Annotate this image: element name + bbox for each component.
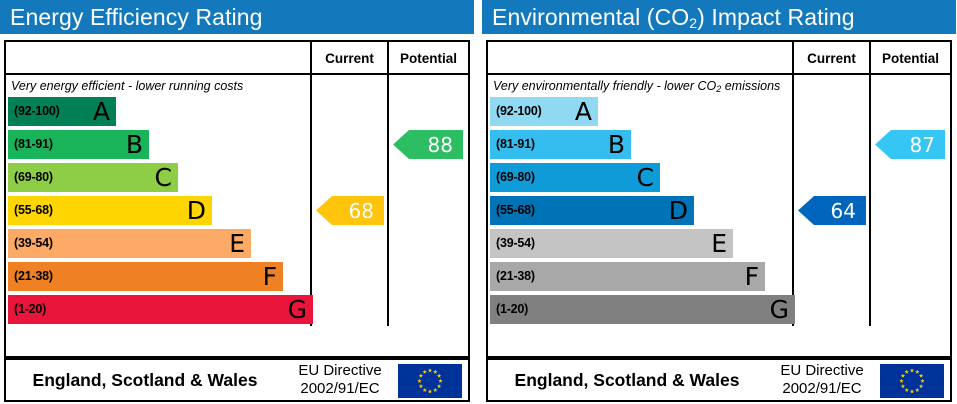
rating-band-F: (21-38)F <box>490 262 765 291</box>
eu-flag-icon <box>398 364 462 398</box>
caption-suffix: emissions <box>721 79 780 93</box>
band-letter-C: C <box>637 165 654 190</box>
rating-band-B: (81-91)B <box>490 130 631 159</box>
column-divider-current <box>792 75 794 326</box>
band-range-E: (39-54) <box>14 237 53 250</box>
rating-band-A: (92-100)A <box>8 97 116 126</box>
band-range-F: (21-38) <box>496 270 535 283</box>
caption-prefix: Very environmentally friendly - lower CO <box>493 79 716 93</box>
band-letter-E: E <box>711 231 727 256</box>
footer-directive-label: EU Directive2002/91/EC <box>766 360 878 400</box>
column-divider-current <box>310 75 312 326</box>
band-letter-D: D <box>187 198 206 223</box>
directive-line-1: EU Directive <box>284 362 396 380</box>
band-range-G: (1-20) <box>14 303 46 316</box>
panel-title-prefix: Environmental (CO <box>492 4 689 30</box>
band-range-B: (81-91) <box>14 138 53 151</box>
panel-title-energy-efficiency: Energy Efficiency Rating <box>0 0 474 34</box>
column-header-row: CurrentPotential <box>488 42 950 75</box>
directive-line-1: EU Directive <box>766 362 878 380</box>
footer-row: England, Scotland & WalesEU Directive200… <box>486 358 952 402</box>
epc-panel-environmental-co2-impact: Environmental (CO2) Impact RatingCurrent… <box>482 0 956 404</box>
rating-band-E: (39-54)E <box>8 229 251 258</box>
band-range-A: (92-100) <box>496 105 542 118</box>
rating-table: CurrentPotentialVery energy efficient - … <box>4 40 470 358</box>
panel-title-environmental-co2-impact: Environmental (CO2) Impact Rating <box>482 0 956 34</box>
column-header-potential: Potential <box>387 42 468 73</box>
column-header-current: Current <box>310 42 387 73</box>
band-range-B: (81-91) <box>496 138 535 151</box>
rating-band-F: (21-38)F <box>8 262 283 291</box>
rating-band-E: (39-54)E <box>490 229 733 258</box>
column-divider-potential <box>387 75 389 326</box>
band-letter-D: D <box>669 198 688 223</box>
footer-region-label: England, Scotland & Wales <box>6 360 284 400</box>
rating-band-B: (81-91)B <box>8 130 149 159</box>
column-header-row: CurrentPotential <box>6 42 468 75</box>
column-header-current: Current <box>792 42 869 73</box>
band-letter-G: G <box>288 297 307 322</box>
band-letter-F: F <box>745 264 759 289</box>
caption-top: Very environmentally friendly - lower CO… <box>488 75 790 97</box>
rating-band-A: (92-100)A <box>490 97 598 126</box>
rating-band-C: (69-80)C <box>8 163 178 192</box>
rating-band-C: (69-80)C <box>490 163 660 192</box>
band-range-A: (92-100) <box>14 105 60 118</box>
band-letter-A: A <box>93 99 110 124</box>
band-letter-C: C <box>155 165 172 190</box>
band-letter-A: A <box>575 99 592 124</box>
band-letter-F: F <box>263 264 277 289</box>
rating-band-G: (1-20)G <box>8 295 313 324</box>
footer-directive-label: EU Directive2002/91/EC <box>284 360 396 400</box>
epc-chart-page: Energy Efficiency RatingCurrentPotential… <box>0 0 957 404</box>
band-range-G: (1-20) <box>496 303 528 316</box>
band-letter-G: G <box>770 297 789 322</box>
current-rating-arrow: 64 <box>798 196 866 225</box>
eu-flag-icon <box>880 364 944 398</box>
footer-row: England, Scotland & WalesEU Directive200… <box>4 358 470 402</box>
co2-subscript: 2 <box>689 15 697 31</box>
column-header-potential: Potential <box>869 42 950 73</box>
co2-subscript: 2 <box>716 84 721 94</box>
band-range-D: (55-68) <box>496 204 535 217</box>
rating-band-D: (55-68)D <box>490 196 694 225</box>
band-range-C: (69-80) <box>14 171 53 184</box>
rating-bands: (92-100)A(81-91)B(69-80)C(55-68)D(39-54)… <box>6 97 308 329</box>
panel-title-suffix: ) Impact Rating <box>697 4 854 30</box>
caption-top: Very energy efficient - lower running co… <box>6 75 308 97</box>
column-header-blank <box>6 42 310 73</box>
band-range-F: (21-38) <box>14 270 53 283</box>
directive-line-2: 2002/91/EC <box>284 380 396 398</box>
directive-line-2: 2002/91/EC <box>766 380 878 398</box>
band-letter-B: B <box>126 132 143 157</box>
rating-band-D: (55-68)D <box>8 196 212 225</box>
potential-rating-arrow: 88 <box>393 130 463 159</box>
rating-table: CurrentPotentialVery environmentally fri… <box>486 40 952 358</box>
rating-bands: (92-100)A(81-91)B(69-80)C(55-68)D(39-54)… <box>488 97 790 329</box>
band-letter-B: B <box>608 132 625 157</box>
band-range-D: (55-68) <box>14 204 53 217</box>
column-header-blank <box>488 42 792 73</box>
footer-region-label: England, Scotland & Wales <box>488 360 766 400</box>
epc-panel-energy-efficiency: Energy Efficiency RatingCurrentPotential… <box>0 0 474 404</box>
rating-band-G: (1-20)G <box>490 295 795 324</box>
band-range-E: (39-54) <box>496 237 535 250</box>
band-range-C: (69-80) <box>496 171 535 184</box>
column-divider-potential <box>869 75 871 326</box>
potential-rating-arrow: 87 <box>875 130 945 159</box>
band-letter-E: E <box>229 231 245 256</box>
current-rating-arrow: 68 <box>316 196 384 225</box>
